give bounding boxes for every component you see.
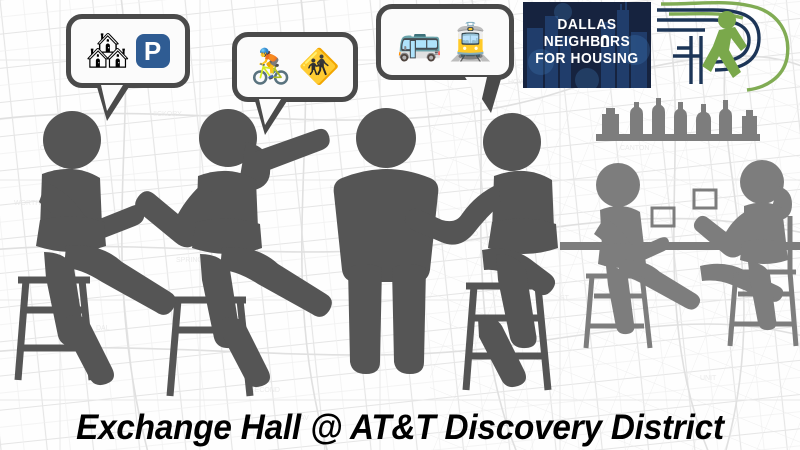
logo-text: DALLAS NEIGHBRS FOR HOUSING	[528, 16, 646, 67]
logo-line-2: NEIGHBRS	[528, 33, 646, 50]
walkable-streets-logo[interactable]	[655, 0, 800, 92]
pedestrian-crossing-sign-icon: 🚸	[298, 50, 340, 84]
dallas-neighbors-for-housing-logo[interactable]: DALLAS NEIGHBRS FOR HOUSING	[523, 2, 651, 88]
community-meeting-illustration	[0, 90, 800, 400]
transit-bubble: 🚌 🚊	[376, 4, 514, 80]
parking-sign-icon: P	[136, 34, 170, 68]
page-title: Exchange Hall @ AT&T Discovery District	[20, 408, 780, 448]
bar-scene	[560, 98, 800, 348]
light-rail-icon: 🚊	[448, 24, 493, 60]
logo-line-1: DALLAS	[528, 16, 646, 33]
poster-canvas: WORTHOLEIG SPRINGSDAL SECONDAV HICKORYHO…	[0, 0, 800, 450]
bus-icon: 🚌	[397, 24, 442, 60]
foreground-figures	[18, 108, 558, 396]
houses-icon: 🏘	[86, 34, 129, 68]
house-o-icon	[601, 35, 609, 47]
housing-and-parking-bubble: 🏘 P	[66, 14, 190, 88]
logo-line-3: FOR HOUSING	[528, 50, 646, 67]
cyclist-icon: 🚴	[250, 50, 292, 84]
